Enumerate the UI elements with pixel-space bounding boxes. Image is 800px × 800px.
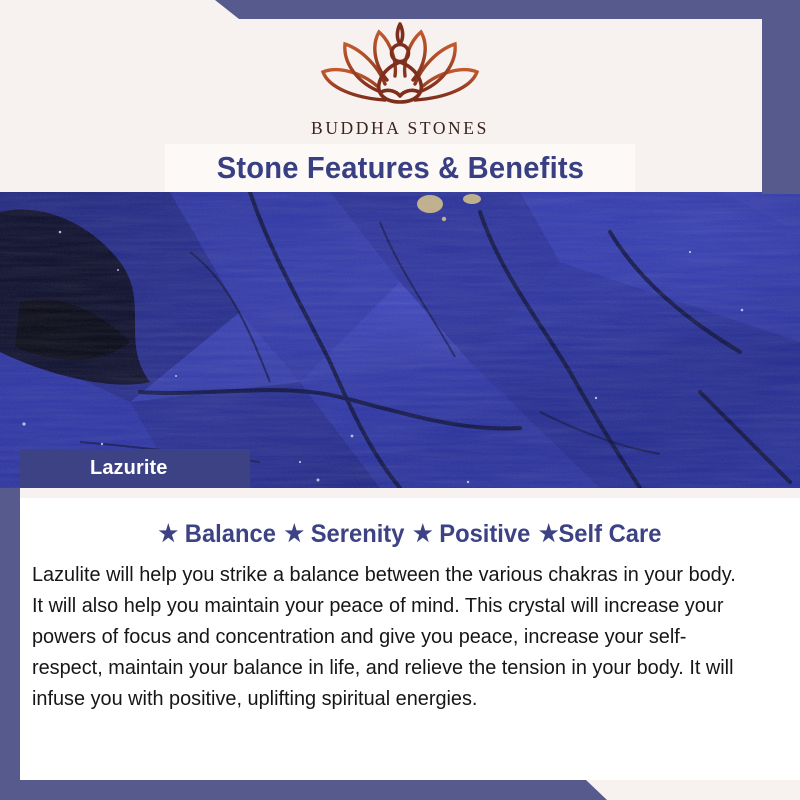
content-panel: ★Balance★Serenity★Positive★Self Care Laz… [20,488,800,780]
stone-name: Lazurite [90,457,167,480]
panel-top-accent [20,488,800,498]
title-banner: Stone Features & Benefits [165,144,635,192]
star-icon: ★ [413,520,433,547]
decor-right-strip [762,0,800,194]
keyword-item: ★Balance [159,520,276,549]
keyword-list: ★Balance★Serenity★Positive★Self Care [40,520,781,549]
star-icon: ★ [539,520,559,547]
star-icon: ★ [159,520,179,547]
brand-name: BUDDHA STONES [0,118,800,139]
keyword-label: Self Care [558,520,661,549]
keyword-item: ★Self Care [539,520,662,549]
brand-logo: BUDDHA STONES [0,22,800,139]
stone-photo-image [0,192,800,488]
stone-photo [0,192,800,488]
keyword-item: ★Serenity [284,520,404,549]
lotus-meditation-icon [315,22,485,114]
page-title: Stone Features & Benefits [216,150,583,186]
decor-bottom-band [0,780,800,800]
keyword-item: ★Positive [413,520,530,549]
stone-description: Lazulite will help you strike a balance … [32,559,750,714]
star-icon: ★ [284,520,304,547]
keyword-label: Serenity [311,520,405,549]
stone-name-tag: Lazurite [20,449,250,488]
decor-left-strip [0,488,20,780]
keyword-label: Positive [439,520,530,549]
poster-card: BUDDHA STONES Stone Features & Benefits [0,0,800,800]
keyword-label: Balance [185,520,276,549]
